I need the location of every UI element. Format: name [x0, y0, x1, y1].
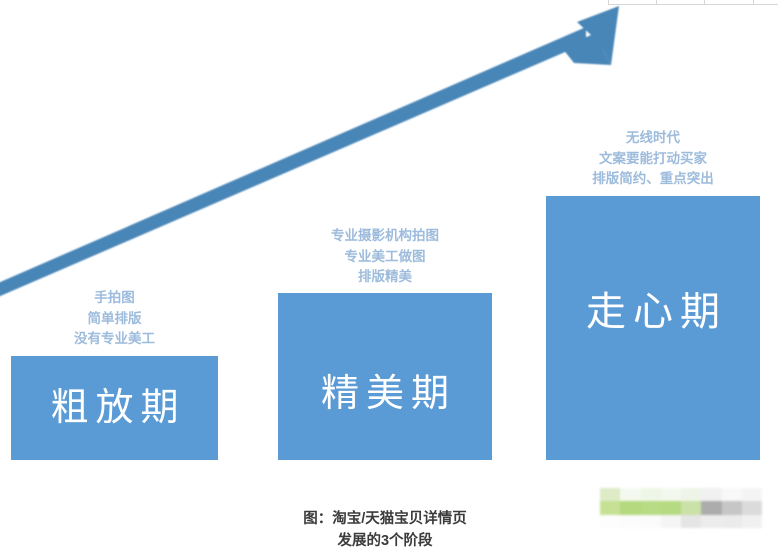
- grid-cell: [657, 0, 705, 4]
- grid-cell: [705, 0, 753, 4]
- stage-2-note-line: 排版精美: [278, 267, 492, 288]
- stage-1-bar[interactable]: 粗放期: [11, 356, 218, 460]
- top-table-grid-artifact: [608, 0, 778, 5]
- grid-cell: [754, 0, 778, 4]
- figure-caption: 图：淘宝/天猫宝贝详情页 发展的3个阶段: [285, 508, 485, 553]
- figure-caption-line: 图：淘宝/天猫宝贝详情页: [285, 508, 485, 530]
- figure-caption-line: 发展的3个阶段: [285, 530, 485, 552]
- stage-3-note-line: 排版简约、重点突出: [546, 169, 760, 190]
- stage-3-bar[interactable]: 走心期: [546, 196, 760, 460]
- stage-2-note-line: 专业摄影机构拍图: [278, 226, 492, 247]
- grid-cell: [609, 0, 657, 4]
- stage-3-note-line: 文案要能打动买家: [546, 149, 760, 170]
- figure-canvas: 手拍图 简单排版 没有专业美工 粗放期 专业摄影机构拍图 专业美工做图 排版精美…: [0, 0, 778, 560]
- stage-2-note-line: 专业美工做图: [278, 247, 492, 268]
- stage-2-bar[interactable]: 精美期: [278, 293, 492, 460]
- stage-1-label: 粗放期: [43, 389, 185, 427]
- stage-3-label: 走心期: [579, 292, 727, 332]
- stage-1-note-line: 简单排版: [11, 309, 218, 330]
- stage-2-notes: 专业摄影机构拍图 专业美工做图 排版精美: [278, 226, 492, 288]
- stage-3-note-line: 无线时代: [546, 128, 760, 149]
- stage-1-note-line: 手拍图: [11, 288, 218, 309]
- stage-2-label: 精美期: [314, 375, 456, 413]
- pixelated-watermark: [600, 488, 762, 528]
- stage-1-notes: 手拍图 简单排版 没有专业美工: [11, 288, 218, 350]
- stage-3-notes: 无线时代 文案要能打动买家 排版简约、重点突出: [546, 128, 760, 190]
- stage-1-note-line: 没有专业美工: [11, 329, 218, 350]
